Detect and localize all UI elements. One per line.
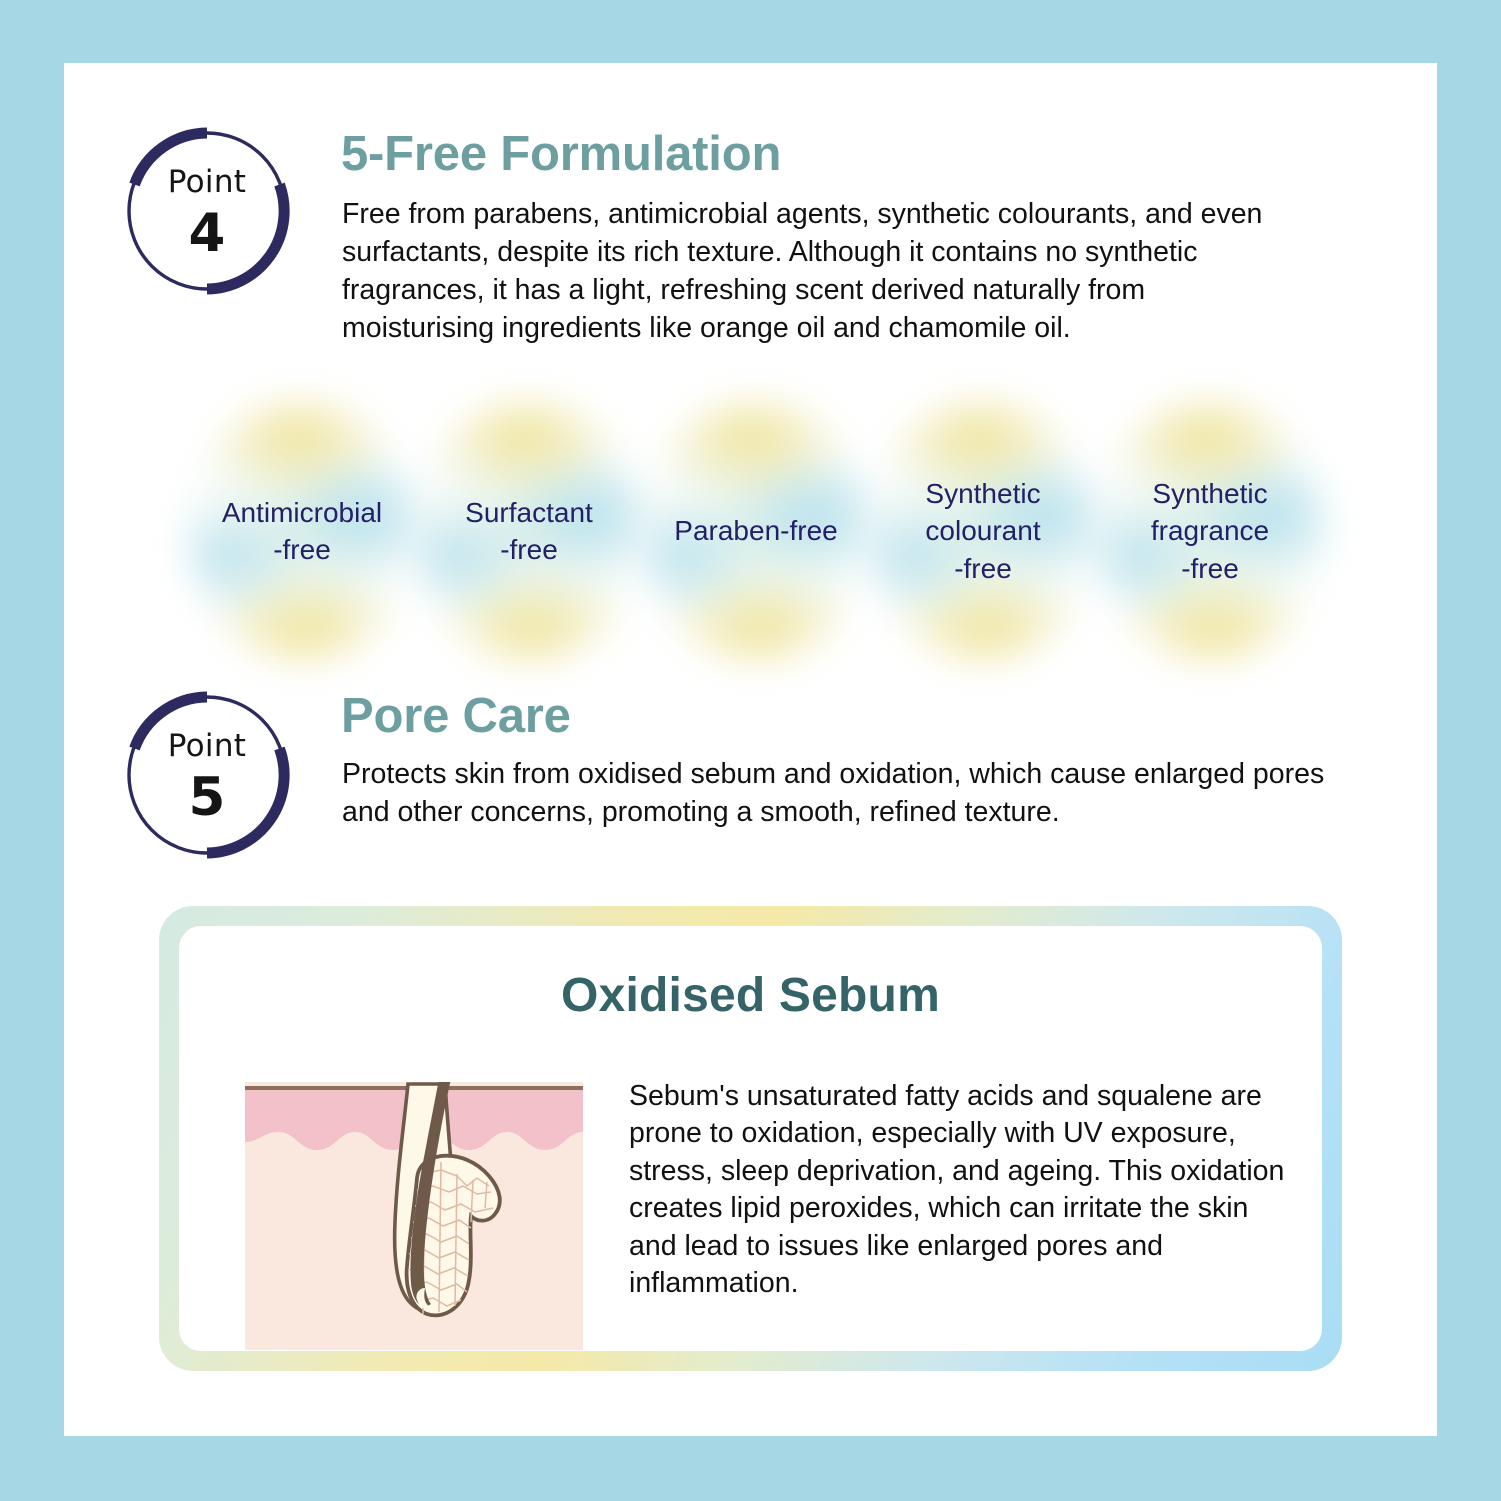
blob-label: Antimicrobial-free <box>186 400 418 662</box>
blob-synthetic-colourant-free: Syntheticcolourant-free <box>867 400 1099 662</box>
blob-label-text: Paraben-free <box>674 512 837 549</box>
section-body-pore-care: Protects skin from oxidised sebum and ox… <box>342 756 1342 832</box>
oxidised-sebum-card: Oxidised Sebum <box>159 906 1342 1371</box>
skin-diagram-svg <box>245 1082 583 1350</box>
blob-label: Syntheticfragrance-free <box>1094 400 1326 662</box>
infographic-page: Point 4 5-Free Formulation Free from par… <box>0 0 1501 1501</box>
blob-label: Paraben-free <box>640 400 872 662</box>
free-claims-blob-row: Antimicrobial-free Surfactant-free Parab… <box>186 400 1366 662</box>
blob-label-text: Syntheticfragrance-free <box>1151 475 1269 587</box>
oxidised-sebum-title: Oxidised Sebum <box>179 968 1322 1023</box>
point-badge-number: 5 <box>119 771 295 824</box>
blob-label-text: Surfactant-free <box>465 494 593 568</box>
blob-synthetic-fragrance-free: Syntheticfragrance-free <box>1094 400 1326 662</box>
blob-surfactant-free: Surfactant-free <box>413 400 645 662</box>
blob-label: Surfactant-free <box>413 400 645 662</box>
blob-label-text: Syntheticcolourant-free <box>925 475 1040 587</box>
point-badge-5: Point 5 <box>119 687 295 863</box>
oxidised-sebum-card-inner: Oxidised Sebum <box>179 926 1322 1351</box>
skin-cross-section-diagram <box>245 1082 583 1350</box>
section-title-pore-care: Pore Care <box>341 692 571 741</box>
point-badge-word: Point <box>119 731 295 762</box>
section-body-5-free-formulation: Free from parabens, antimicrobial agents… <box>342 196 1282 348</box>
point-badge-4: Point 4 <box>119 123 295 299</box>
blob-paraben-free: Paraben-free <box>640 400 872 662</box>
blob-label-text: Antimicrobial-free <box>222 494 382 568</box>
blob-antimicrobial-free: Antimicrobial-free <box>186 400 418 662</box>
blob-label: Syntheticcolourant-free <box>867 400 1099 662</box>
white-content-panel: Point 4 5-Free Formulation Free from par… <box>64 63 1437 1436</box>
point-badge-number: 4 <box>119 207 295 260</box>
section-title-5-free-formulation: 5-Free Formulation <box>341 130 781 179</box>
oxidised-sebum-body: Sebum's unsaturated fatty acids and squa… <box>629 1078 1301 1303</box>
point-badge-word: Point <box>119 167 295 198</box>
